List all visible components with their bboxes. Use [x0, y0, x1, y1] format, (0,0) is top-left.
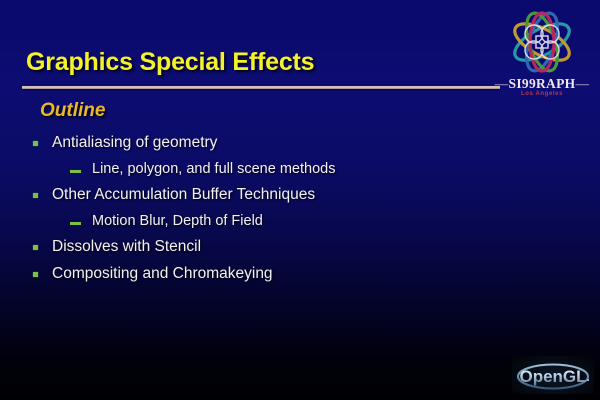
bullet-item: Other Accumulation Buffer Techniques	[30, 186, 500, 204]
bullet-label: Dissolves with Stencil	[52, 238, 201, 256]
bullet-label: Compositing and Chromakeying	[52, 265, 273, 283]
bullet-item: Motion Blur, Depth of Field	[30, 213, 500, 229]
bullet-item: Antialiasing of geometry	[30, 134, 500, 152]
bullet-dash-icon	[70, 170, 81, 173]
bullet-dash-icon	[70, 222, 81, 225]
siggraph-logo: —SI99RAPH— Los Angeles	[490, 6, 594, 104]
bullet-item: Dissolves with Stencil	[30, 238, 500, 256]
svg-text:OpenGL: OpenGL	[519, 367, 586, 386]
bullet-dot-icon	[33, 272, 38, 277]
bullet-label: Motion Blur, Depth of Field	[92, 213, 263, 229]
bullet-list: Antialiasing of geometry Line, polygon, …	[30, 134, 500, 292]
slide-title: Graphics Special Effects	[26, 48, 314, 77]
opengl-logo: OpenGL	[512, 356, 594, 394]
siggraph-wordmark-text: SI99RAPH	[509, 76, 576, 91]
bullet-label: Other Accumulation Buffer Techniques	[52, 186, 315, 204]
section-heading: Outline	[40, 100, 105, 122]
bullet-dot-icon	[33, 245, 38, 250]
siggraph-dash-right: —	[575, 76, 589, 91]
bullet-dot-icon	[33, 141, 38, 146]
bullet-item: Compositing and Chromakeying	[30, 265, 500, 283]
bullet-dot-icon	[33, 193, 38, 198]
siggraph-dash-left: —	[495, 76, 509, 91]
siggraph-wordmark: —SI99RAPH—	[490, 76, 594, 92]
siggraph-rings-icon	[494, 6, 590, 78]
presentation-slide: Graphics Special Effects Outline Antiali…	[0, 0, 600, 400]
title-divider	[22, 86, 500, 89]
bullet-label: Line, polygon, and full scene methods	[92, 161, 335, 177]
opengl-logo-icon: OpenGL	[512, 356, 594, 394]
siggraph-city-label: Los Angeles	[490, 91, 594, 97]
bullet-label: Antialiasing of geometry	[52, 134, 217, 152]
bullet-item: Line, polygon, and full scene methods	[30, 161, 500, 177]
